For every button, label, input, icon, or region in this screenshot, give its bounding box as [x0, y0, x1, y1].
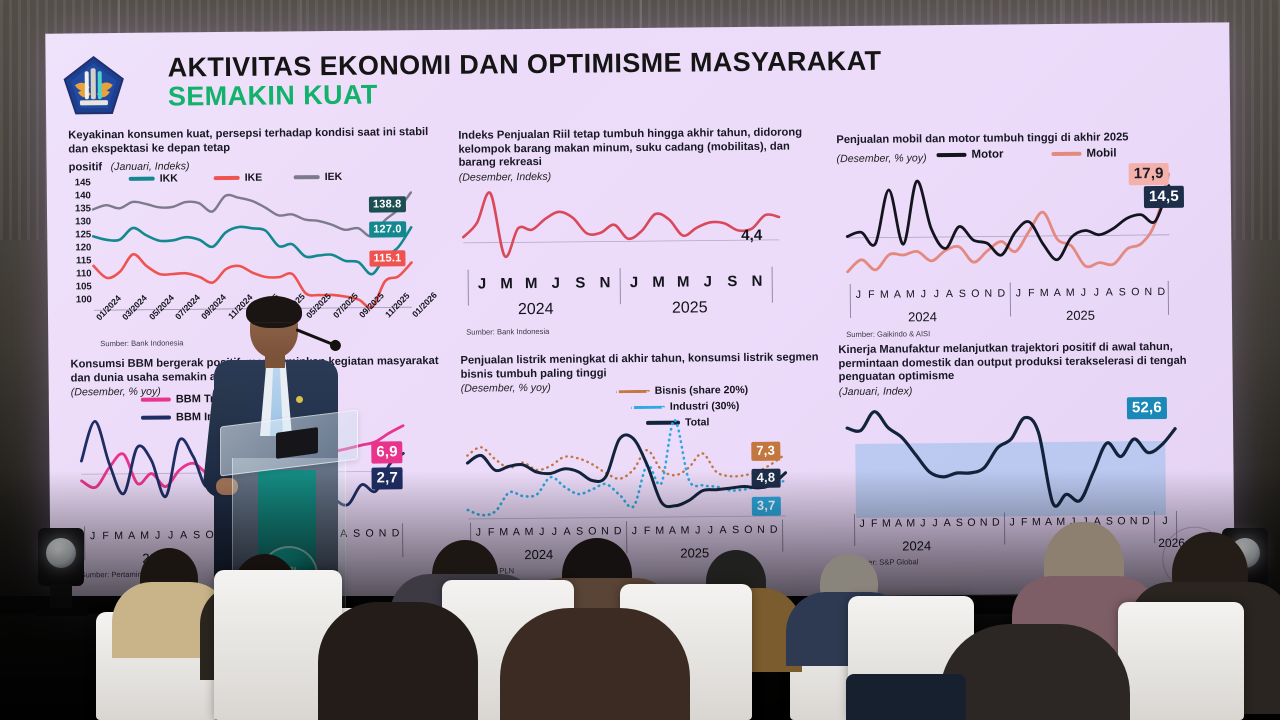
legend-line-icon — [936, 153, 966, 157]
slide-title-line2: SEMAKIN KUAT — [168, 75, 882, 113]
month-tick: D — [995, 287, 1008, 299]
speaker-glasses — [253, 322, 295, 332]
year-label-2025: 2025 — [1066, 308, 1095, 323]
month-tick: A — [943, 288, 956, 300]
legend-dotted-line-icon — [616, 389, 650, 392]
month-tick: F — [865, 289, 878, 301]
panel-subtitle: (Desember, % yoy) — [836, 152, 926, 165]
panel-heading: Indeks Penjualan Riil tetap tumbuh hingg… — [458, 126, 808, 170]
month-tick: M — [1064, 287, 1077, 299]
month-axis-2025: JMM JSN — [622, 273, 770, 291]
slide-title-line1: AKTIVITAS EKONOMI DAN OPTIMISME MASYARAK… — [167, 48, 881, 82]
month-tick: N — [1142, 286, 1155, 298]
panel-source: Sumber: Gaikindo & AISI — [846, 329, 930, 339]
microphone — [295, 328, 335, 347]
legend-label: Bisnis (share 20%) — [655, 384, 748, 397]
audience-foreground-head — [318, 602, 478, 720]
legend-bisnis: Bisnis (share 20%) — [616, 384, 748, 397]
audience-table-item — [846, 674, 966, 720]
panel-heading: Penjualan listrik meningkat di akhir tah… — [460, 351, 830, 382]
legend-label: Motor — [971, 149, 1003, 161]
panel-heading: Kinerja Manufaktur melanjutkan trajektor… — [838, 340, 1213, 385]
month-axis-2024: JFMAMJJASOND — [852, 287, 1008, 300]
end-value-retail: 4,4 — [741, 227, 762, 244]
month-tick: M — [878, 289, 891, 301]
value-label-motor: 14,5 — [1144, 186, 1184, 208]
month-tick: S — [1116, 286, 1129, 298]
legend-label: Mobil — [1086, 147, 1116, 159]
chair — [1118, 602, 1244, 720]
month-tick: J — [917, 288, 930, 300]
axis-divider — [772, 267, 773, 303]
kemenkeu-logo — [62, 55, 127, 118]
slide-title-block: AKTIVITAS EKONOMI DAN OPTIMISME MASYARAK… — [167, 48, 881, 113]
value-label-iek: 138.8 — [369, 196, 406, 213]
panel-vehicle-sales: Penjualan mobil dan motor tumbuh tinggi … — [836, 131, 1208, 365]
month-tick: S — [956, 288, 969, 300]
legend-line-icon — [1051, 152, 1081, 156]
audience-foreground-head — [500, 608, 690, 720]
value-label-pmi: 52,6 — [1127, 397, 1167, 419]
legend-line-icon — [141, 398, 171, 402]
month-tick: F — [1025, 287, 1038, 299]
month-tick: M — [1038, 287, 1051, 299]
audience-foreground-head — [940, 624, 1130, 720]
value-label-bisnis: 7,3 — [751, 442, 780, 461]
month-axis-2025: JFMAMJJASOND — [1012, 286, 1168, 299]
panel-heading: Keyakinan konsumen kuat, persepsi terhad… — [68, 126, 433, 157]
panel-heading: Penjualan mobil dan motor tumbuh tinggi … — [836, 131, 1206, 148]
month-tick: J — [930, 288, 943, 300]
panel-real-sales: Indeks Penjualan Riil tetap tumbuh hingg… — [458, 126, 810, 359]
presentation-room-photo: AKTIVITAS EKONOMI DAN OPTIMISME MASYARAK… — [0, 0, 1280, 720]
month-tick: A — [1051, 287, 1064, 299]
legend-label: Industri (30%) — [670, 400, 740, 413]
month-tick: J — [852, 289, 865, 301]
month-tick: J — [1077, 287, 1090, 299]
speaker-lapel-pin — [296, 396, 303, 403]
value-label-ike: 115.1 — [369, 250, 405, 267]
x-tick-label: 01/2026 — [410, 290, 439, 319]
legend-dotted-line-icon — [631, 405, 665, 408]
year-label-2024: 2024 — [908, 309, 937, 324]
year-label-2025: 2025 — [672, 299, 708, 317]
axis-divider — [1168, 281, 1169, 315]
month-tick: O — [1129, 286, 1142, 298]
panel-heading-tail: positif — [69, 161, 103, 173]
month-tick: A — [1103, 286, 1116, 298]
legend-mobil: Mobil — [1051, 147, 1116, 160]
panel-source: Sumber: Bank Indonesia — [466, 327, 549, 337]
month-tick: J — [1090, 287, 1103, 299]
month-tick: J — [1012, 287, 1025, 299]
legend-motor: Motor — [936, 149, 1003, 162]
panel-source: Sumber: Bank Indonesia — [100, 338, 183, 348]
month-tick: O — [969, 288, 982, 300]
legend-industri: Industri (30%) — [631, 400, 740, 413]
month-axis-2024: JMM JSN — [470, 274, 618, 292]
value-label-ikk: 127.0 — [369, 221, 406, 238]
month-tick: D — [1155, 286, 1168, 298]
month-tick: A — [891, 288, 904, 300]
month-tick: M — [904, 288, 917, 300]
year-label-2024: 2024 — [518, 301, 554, 319]
value-label-mobil: 17,9 — [1129, 163, 1169, 185]
consumer-confidence-plot — [93, 174, 412, 310]
vehicle-sales-plot — [847, 167, 1170, 282]
real-sales-plot — [463, 183, 780, 264]
audience-rows — [0, 460, 1280, 720]
month-tick: N — [982, 288, 995, 300]
